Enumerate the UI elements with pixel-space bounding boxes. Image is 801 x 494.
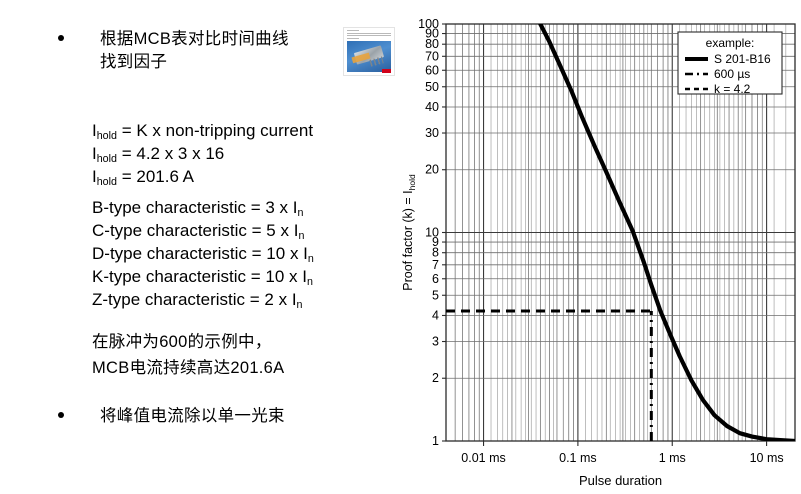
formula-line-3: Ihold = 201.6 A: [92, 166, 412, 189]
formula-1-rest: = K x non-tripping current: [117, 121, 313, 140]
bullet-1-line-1: 根据MCB表对比时间曲线: [100, 30, 289, 48]
datasheet-thumbnail-image: [343, 27, 395, 76]
x-tick-label: 1 ms: [659, 451, 686, 465]
y-tick-label: 30: [425, 126, 439, 140]
bullet-item-1: 根据MCB表对比时间曲线 找到因子: [58, 28, 358, 74]
formula-3-subscript: hold: [97, 176, 117, 188]
formula-3-rest: = 201.6 A: [117, 167, 194, 186]
y-tick-label: 5: [432, 288, 439, 302]
y-axis-title: Proof factor (k) = Ihold: [401, 174, 417, 291]
legend-title: example:: [706, 36, 755, 50]
bullet-dot-icon: [58, 412, 64, 418]
thumbnail-brand-mark: [382, 69, 391, 73]
legend-label: k = 4.2: [714, 82, 751, 96]
bullet-dot-icon: [58, 35, 64, 41]
formula-block: Ihold = K x non-tripping current Ihold =…: [92, 120, 412, 312]
formula-line-2: Ihold = 4.2 x 3 x 16: [92, 143, 412, 166]
characteristic-z-text: Z-type characteristic = 2 x I: [92, 290, 297, 309]
y-tick-label: 6: [432, 272, 439, 286]
chart-svg: 1234567891020304050607080901000.01 ms0.1…: [396, 8, 801, 494]
y-tick-label: 2: [432, 371, 439, 385]
y-tick-label: 4: [432, 308, 439, 322]
characteristic-c-sub: n: [298, 230, 304, 242]
characteristic-d-text: D-type characteristic = 10 x I: [92, 244, 308, 263]
characteristic-b-text: B-type characteristic = 3 x I: [92, 198, 298, 217]
y-tick-label: 40: [425, 100, 439, 114]
x-tick-label: 10 ms: [750, 451, 784, 465]
characteristic-z-type: Z-type characteristic = 2 x In: [92, 289, 412, 312]
bullet-item-2-text: 将峰值电流除以单一光束: [100, 405, 285, 428]
characteristic-d-sub: n: [308, 253, 314, 265]
y-tick-label: 10: [425, 226, 439, 240]
characteristic-c-type: C-type characteristic = 5 x In: [92, 220, 412, 243]
slide-canvas: 根据MCB表对比时间曲线 找到因子 Ihold = K x non-trippi…: [0, 0, 801, 494]
thumbnail-pins-shape: [369, 57, 384, 67]
characteristic-b-type: B-type characteristic = 3 x In: [92, 197, 412, 220]
x-tick-label: 0.01 ms: [461, 451, 505, 465]
characteristic-b-sub: n: [298, 207, 304, 219]
characteristic-k-sub: n: [307, 276, 313, 288]
characteristic-z-sub: n: [297, 299, 303, 311]
formula-2-subscript: hold: [97, 153, 117, 165]
y-tick-label: 70: [425, 49, 439, 63]
formula-2-rest: = 4.2 x 3 x 16: [117, 144, 224, 163]
formula-1-subscript: hold: [97, 130, 117, 142]
y-tick-label: 3: [432, 335, 439, 349]
bullet-1-line-2: 找到因子: [100, 53, 167, 71]
y-tick-label: 100: [418, 17, 439, 31]
formula-line-1: Ihold = K x non-tripping current: [92, 120, 412, 143]
svg-text:Proof factor (k) = Ihold: Proof factor (k) = Ihold: [401, 174, 417, 291]
legend-label: S 201-B16: [714, 52, 771, 66]
bullet-item-2: 将峰值电流除以单一光束: [58, 405, 388, 428]
note-chinese: 在脉冲为600的示例中， MCB电流持续高达201.6A: [92, 330, 402, 381]
characteristic-d-type: D-type characteristic = 10 x In: [92, 243, 412, 266]
y-tick-label: 20: [425, 163, 439, 177]
note-line-2: MCB电流持续高达201.6A: [92, 356, 402, 382]
x-axis-title: Pulse duration: [579, 473, 662, 488]
thumbnail-header-lines: [347, 30, 391, 39]
y-tick-label: 60: [425, 63, 439, 77]
y-tick-label: 7: [432, 258, 439, 272]
y-tick-label: 50: [425, 80, 439, 94]
note-line-1: 在脉冲为600的示例中，: [92, 330, 402, 356]
characteristic-k-text: K-type characteristic = 10 x I: [92, 267, 307, 286]
characteristic-k-type: K-type characteristic = 10 x In: [92, 266, 412, 289]
bullet-item-1-text: 根据MCB表对比时间曲线 找到因子: [100, 28, 289, 74]
characteristics-list: B-type characteristic = 3 x In C-type ch…: [92, 197, 412, 312]
thumbnail-product-photo: [347, 41, 391, 72]
legend-label: 600 µs: [714, 67, 750, 81]
characteristic-c-text: C-type characteristic = 5 x I: [92, 221, 298, 240]
y-tick-label: 1: [432, 434, 439, 448]
proof-factor-chart: 1234567891020304050607080901000.01 ms0.1…: [396, 8, 801, 494]
x-tick-label: 0.1 ms: [559, 451, 597, 465]
